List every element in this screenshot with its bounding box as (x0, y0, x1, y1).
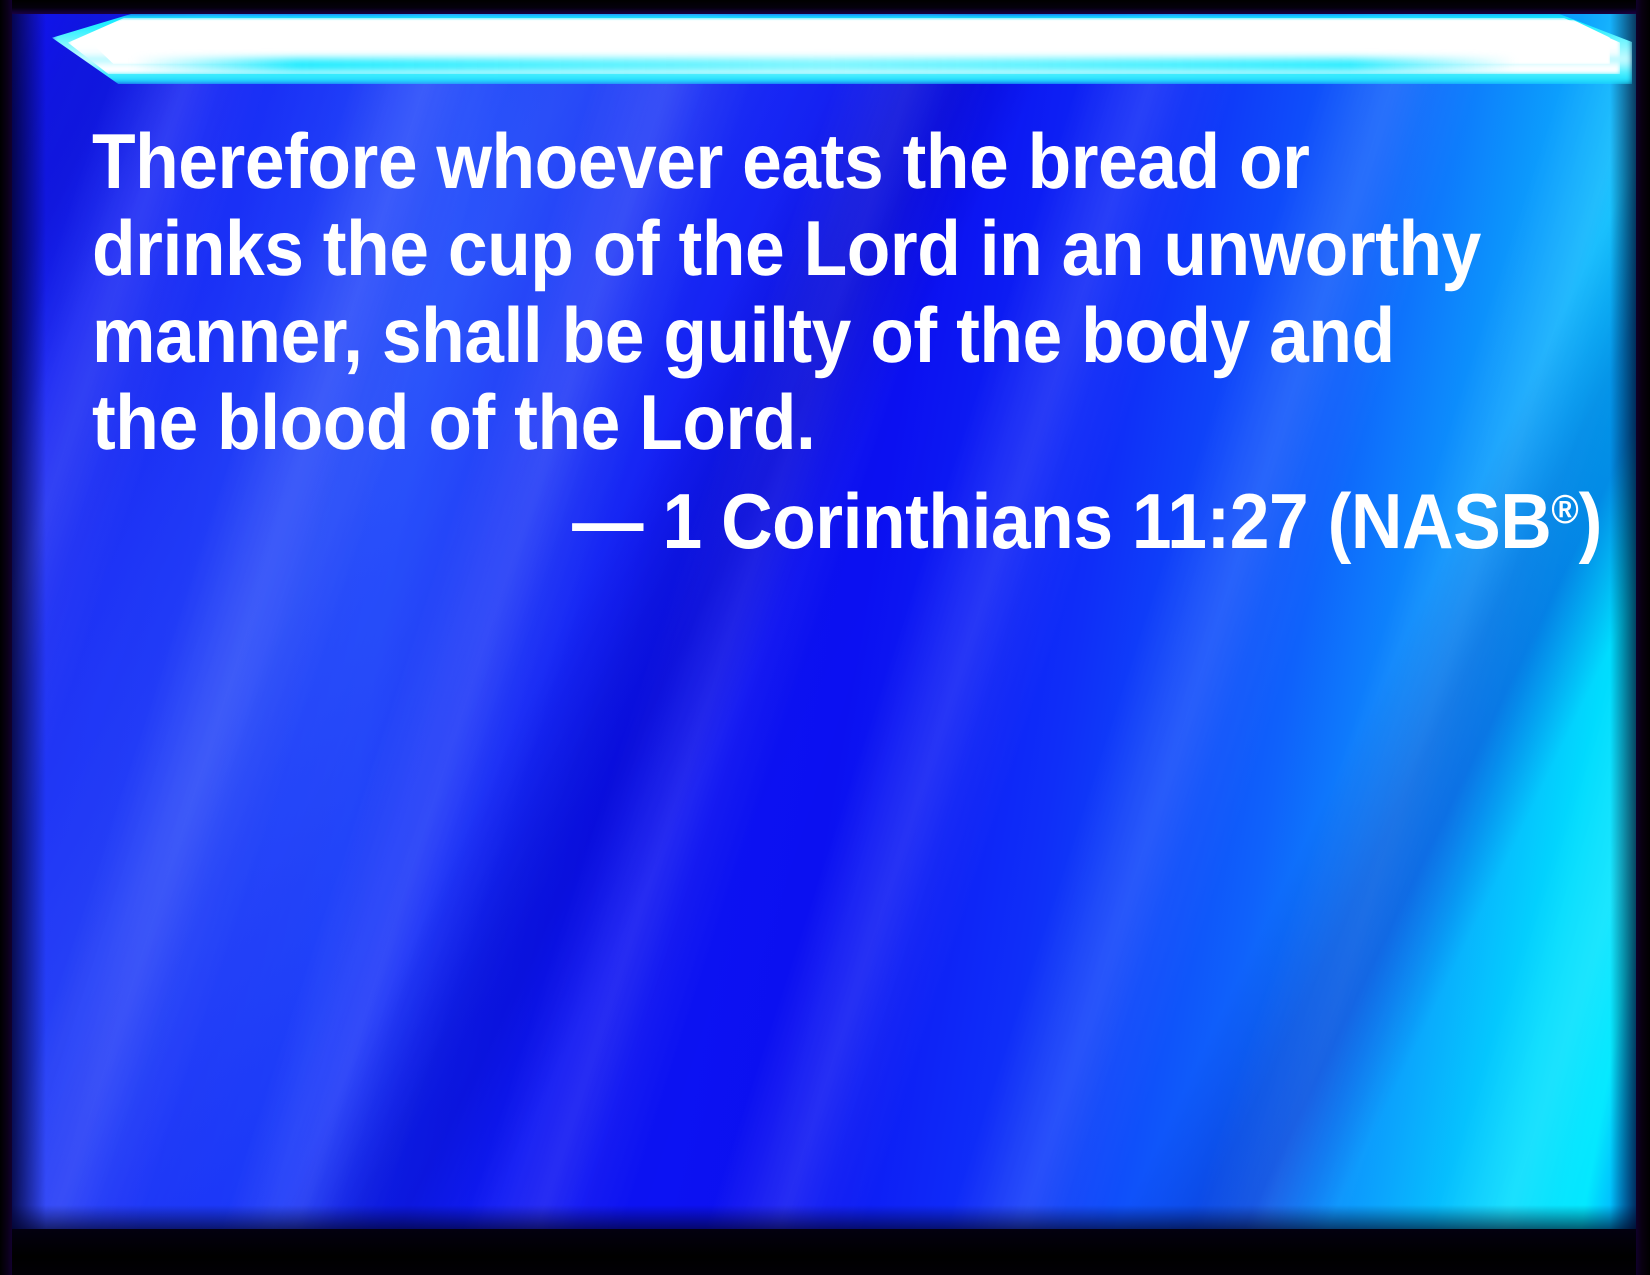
frame-border-top (0, 0, 1650, 14)
verse-line-2: drinks the cup of the Lord in an unworth… (92, 205, 1474, 292)
attribution-close-paren: ) (1579, 477, 1602, 565)
attribution-translation: NASB (1351, 477, 1551, 565)
scripture-slide: Therefore whoever eats the bread or drin… (0, 0, 1650, 1275)
slide-canvas: Therefore whoever eats the bread or drin… (12, 14, 1636, 1229)
verse-line-4: the blood of the Lord. (92, 379, 1474, 466)
verse-line-3: manner, shall be guilty of the body and (92, 292, 1474, 379)
attribution-reference: 1 Corinthians 11:27 (662, 477, 1308, 565)
frame-border-left (0, 0, 12, 1275)
registered-trademark-icon: ® (1551, 486, 1578, 532)
frame-border-right (1636, 0, 1650, 1275)
attribution-em-dash: — (572, 477, 643, 565)
verse-line-1: Therefore whoever eats the bread or (92, 118, 1474, 205)
attribution-open-paren: ( (1328, 477, 1351, 565)
verse-text-block: Therefore whoever eats the bread or drin… (92, 118, 1602, 565)
attribution-space (643, 477, 662, 565)
verse-attribution: — 1 Corinthians 11:27 (NASB®) (220, 466, 1602, 565)
frame-border-bottom (0, 1229, 1650, 1275)
attribution-space-2 (1308, 477, 1327, 565)
